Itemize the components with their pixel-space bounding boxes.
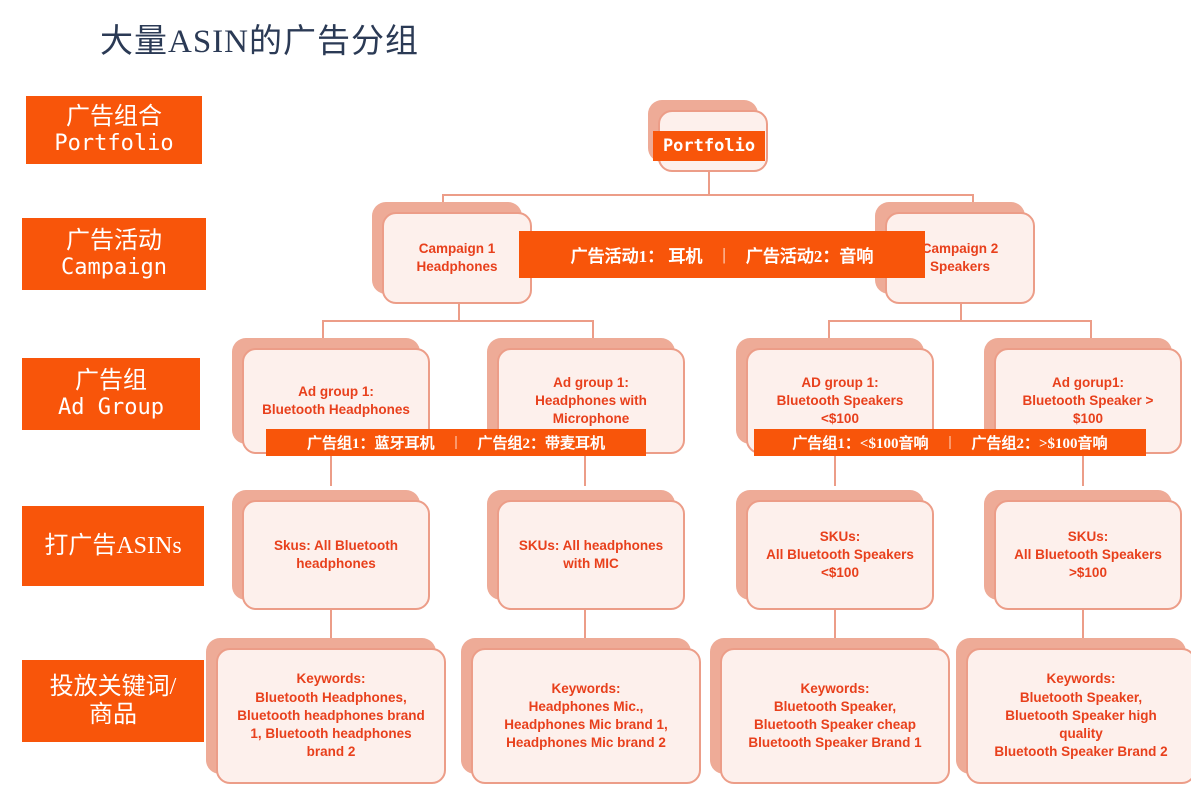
node-label: SKUs: All headphones with MIC bbox=[512, 533, 670, 577]
connector-campaign-bus bbox=[442, 194, 974, 196]
node-label: Keywords: Headphones Mic., Headphones Mi… bbox=[497, 676, 675, 757]
node-label: SKUs: All Bluetooth Speakers <$100 bbox=[759, 524, 921, 587]
node-label: Campaign 1 Headphones bbox=[409, 236, 504, 280]
node-campaign-1[interactable]: Campaign 1 Headphones bbox=[372, 202, 522, 294]
banner-portfolio-label: Portfolio bbox=[657, 136, 761, 156]
node-sku-3[interactable]: SKUs: All Bluetooth Speakers <$100 bbox=[736, 490, 924, 600]
node-label: Skus: All Bluetooth headphones bbox=[267, 533, 405, 577]
node-card: SKUs: All headphones with MIC bbox=[497, 500, 685, 610]
connector-adgroup3-sku bbox=[834, 452, 836, 486]
node-card: Keywords: Bluetooth Speaker, Bluetooth S… bbox=[720, 648, 950, 784]
node-label: Ad group 1: Bluetooth Headphones bbox=[255, 379, 417, 423]
row-label-campaign-en: Campaign bbox=[61, 255, 167, 281]
node-card: Keywords: Bluetooth Speaker, Bluetooth S… bbox=[966, 648, 1191, 784]
banner-ad-group-right: 广告组1：<$100音响 | 广告组2：>$100音响 bbox=[754, 429, 1146, 456]
node-label: Keywords: Bluetooth Speaker, Bluetooth S… bbox=[741, 676, 928, 757]
connector-portfolio-stem bbox=[708, 172, 710, 196]
node-keywords-4[interactable]: Keywords: Bluetooth Speaker, Bluetooth S… bbox=[956, 638, 1186, 774]
banner-ad-group-right-separator: | bbox=[934, 434, 965, 451]
row-label-portfolio: 广告组合 Portfolio bbox=[26, 96, 202, 164]
banner-ad-group-left-separator: | bbox=[440, 434, 471, 451]
banner-ad-group-left-second: 广告组2：带麦耳机 bbox=[472, 432, 612, 453]
node-keywords-2[interactable]: Keywords: Headphones Mic., Headphones Mi… bbox=[461, 638, 691, 774]
row-label-portfolio-cn: 广告组合 bbox=[66, 103, 162, 131]
node-card: Keywords: Headphones Mic., Headphones Mi… bbox=[471, 648, 701, 784]
node-card: SKUs: All Bluetooth Speakers <$100 bbox=[746, 500, 934, 610]
node-card: Campaign 1 Headphones bbox=[382, 212, 532, 304]
banner-campaign-left: 广告活动1： 耳机 bbox=[565, 242, 709, 267]
row-label-asins-cn: 打广告ASINs bbox=[44, 532, 181, 560]
banner-ad-group-right-first: 广告组1：<$100音响 bbox=[786, 432, 934, 453]
banner-portfolio: Portfolio bbox=[653, 131, 765, 161]
page-title: 大量ASIN的广告分组 bbox=[100, 14, 419, 62]
node-label: Keywords: Bluetooth Headphones, Bluetoot… bbox=[230, 666, 432, 765]
connector-adgroup3-drop bbox=[828, 320, 830, 340]
connector-adgroup4-sku bbox=[1082, 452, 1084, 486]
node-sku-4[interactable]: SKUs: All Bluetooth Speakers >$100 bbox=[984, 490, 1172, 600]
connector-adgroup2-sku bbox=[584, 452, 586, 486]
row-label-keywords-cn: 投放关键词/ bbox=[50, 673, 177, 701]
row-label-ad-group-cn: 广告组 bbox=[75, 367, 147, 395]
node-label: Keywords: Bluetooth Speaker, Bluetooth S… bbox=[987, 666, 1174, 765]
connector-adgroup2-drop bbox=[592, 320, 594, 340]
connector-adgroup1-sku bbox=[330, 452, 332, 486]
row-label-ad-group-en: Ad Group bbox=[58, 395, 164, 421]
banner-ad-group-left-first: 广告组1：蓝牙耳机 bbox=[301, 432, 441, 453]
banner-campaign-right: 广告活动2：音响 bbox=[740, 242, 880, 267]
node-keywords-1[interactable]: Keywords: Bluetooth Headphones, Bluetoot… bbox=[206, 638, 436, 774]
node-card: SKUs: All Bluetooth Speakers >$100 bbox=[994, 500, 1182, 610]
banner-campaign: 广告活动1： 耳机 | 广告活动2：音响 bbox=[519, 231, 925, 278]
slide-canvas: 大量ASIN的广告分组 广告组合 Portfolio 广告活动 Campaign… bbox=[0, 0, 1191, 792]
row-label-campaign: 广告活动 Campaign bbox=[22, 218, 206, 290]
row-label-ad-group: 广告组 Ad Group bbox=[22, 358, 200, 430]
node-sku-1[interactable]: Skus: All Bluetooth headphones bbox=[232, 490, 420, 600]
row-label-keywords-cn2: 商品 bbox=[89, 701, 137, 729]
node-label: Ad gorup1: Bluetooth Speaker > $100 bbox=[1016, 370, 1161, 433]
row-label-portfolio-en: Portfolio bbox=[54, 131, 173, 157]
node-keywords-3[interactable]: Keywords: Bluetooth Speaker, Bluetooth S… bbox=[710, 638, 940, 774]
banner-campaign-separator: | bbox=[708, 245, 739, 265]
node-sku-2[interactable]: SKUs: All headphones with MIC bbox=[487, 490, 675, 600]
node-label: AD group 1: Bluetooth Speakers <$100 bbox=[770, 370, 911, 433]
node-card: Skus: All Bluetooth headphones bbox=[242, 500, 430, 610]
node-card: Keywords: Bluetooth Headphones, Bluetoot… bbox=[216, 648, 446, 784]
node-label: SKUs: All Bluetooth Speakers >$100 bbox=[1007, 524, 1169, 587]
connector-adgroup1-drop bbox=[322, 320, 324, 340]
connector-adgroup-bus-left bbox=[322, 320, 594, 322]
row-label-asins: 打广告ASINs bbox=[22, 506, 204, 586]
connector-adgroup-bus-right bbox=[828, 320, 1092, 322]
node-label: Ad group 1: Headphones with Microphone bbox=[528, 370, 654, 433]
node-label: Campaign 2 Speakers bbox=[915, 236, 1006, 280]
row-label-campaign-cn: 广告活动 bbox=[66, 227, 162, 255]
banner-ad-group-right-second: 广告组2：>$100音响 bbox=[966, 432, 1114, 453]
row-label-keywords: 投放关键词/ 商品 bbox=[22, 660, 204, 742]
connector-adgroup4-drop bbox=[1090, 320, 1092, 340]
banner-ad-group-left: 广告组1：蓝牙耳机 | 广告组2：带麦耳机 bbox=[266, 429, 646, 456]
